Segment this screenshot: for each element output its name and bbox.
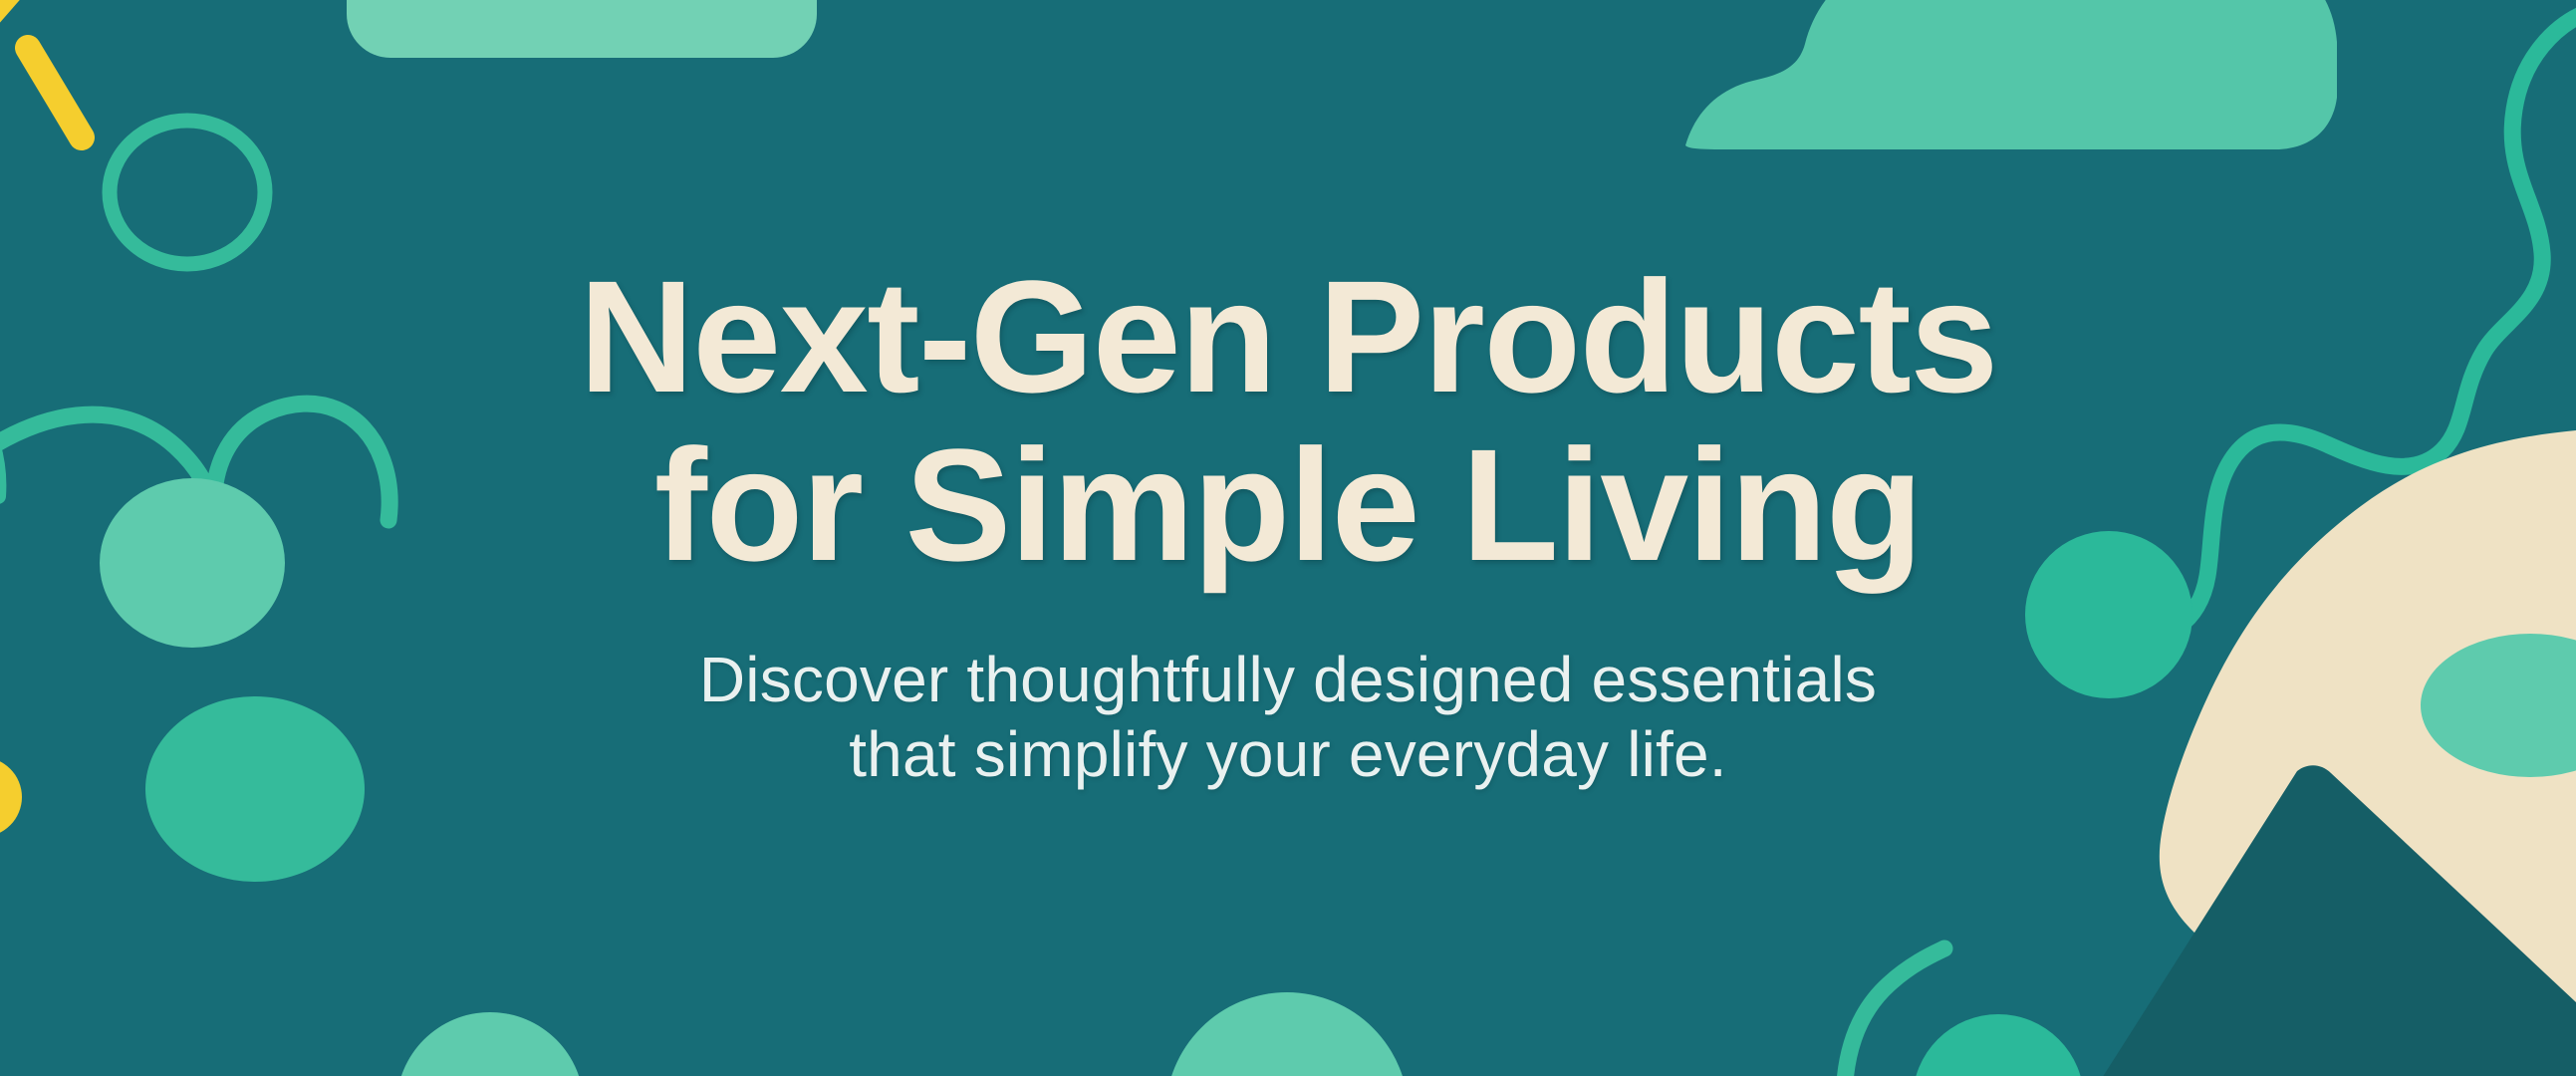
page-subtitle: Discover thoughtfully designed essential…	[699, 643, 1877, 793]
banner-content: Next-Gen Products for Simple Living Disc…	[0, 0, 2576, 1076]
headline-line-1: Next-Gen Products	[579, 255, 1997, 417]
subheadline-line-1: Discover thoughtfully designed essential…	[699, 643, 1877, 718]
hero-banner: Next-Gen Products for Simple Living Disc…	[0, 0, 2576, 1076]
page-title: Next-Gen Products for Simple Living	[579, 255, 1997, 586]
subheadline-line-2: that simplify your everyday life.	[699, 717, 1877, 793]
headline-line-2: for Simple Living	[579, 423, 1997, 586]
